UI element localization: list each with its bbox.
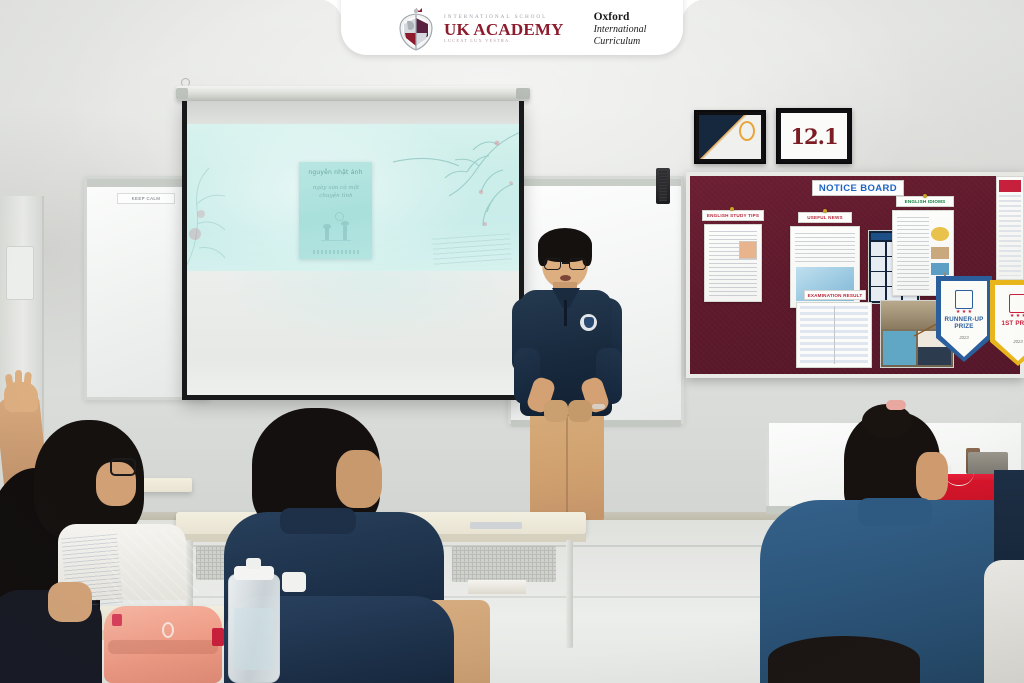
banner-logo-row: INTERNATIONAL SCHOOL UK ACADEMY LUCEAT L… bbox=[341, 6, 683, 52]
keep-calm-sticker: KEEP CALM bbox=[117, 193, 175, 204]
desk-item bbox=[470, 522, 522, 529]
desk-basket bbox=[452, 546, 556, 582]
wristband bbox=[592, 404, 605, 409]
notice-board-title: NOTICE BOARD bbox=[812, 180, 904, 196]
poster-examination-result bbox=[796, 302, 872, 368]
classroom-photo: KEEP CALM bbox=[0, 0, 1024, 683]
book-author: nguyễn nhật ánh bbox=[305, 169, 366, 176]
section-label-examination-result: EXAMINATION RESULT bbox=[804, 290, 866, 300]
pennant-title: RUNNER-UP PRIZE bbox=[936, 316, 992, 330]
banner-notch-left bbox=[317, 0, 343, 25]
school-motto: LUCEAT LUX VESTRA bbox=[444, 39, 564, 43]
school-crest-icon bbox=[580, 314, 597, 331]
school-crest-icon bbox=[396, 6, 436, 52]
projected-slide: nguyễn nhật ánh ngày xưa có một chuyện t… bbox=[187, 124, 519, 271]
poster-study-tips bbox=[704, 224, 762, 302]
pennant-title: 1ST PRIZE bbox=[990, 320, 1024, 327]
partner-line-2: International bbox=[594, 24, 647, 36]
eyeglasses-icon bbox=[569, 258, 586, 270]
hair-tie bbox=[886, 400, 906, 410]
hair-bun bbox=[862, 404, 912, 438]
framed-certificate bbox=[694, 110, 766, 164]
school-name: UK ACADEMY bbox=[444, 21, 564, 38]
slide-text-lines bbox=[432, 233, 512, 268]
eyeglasses-icon bbox=[544, 258, 561, 270]
poster-wall-edge bbox=[996, 176, 1024, 280]
presenter-hand bbox=[568, 400, 592, 422]
presenter bbox=[508, 228, 628, 520]
student-hand bbox=[48, 582, 92, 622]
stacked-papers bbox=[468, 580, 526, 594]
blossom-branch-icon bbox=[393, 126, 519, 246]
banner-notch-right bbox=[681, 0, 707, 25]
eyeglasses-icon bbox=[110, 458, 136, 476]
student-edge-white-shirt bbox=[984, 560, 1024, 683]
projector-screen-roller bbox=[176, 86, 530, 101]
sun-icon bbox=[335, 212, 344, 221]
presenter-hand bbox=[544, 400, 568, 422]
publisher-mark bbox=[313, 250, 359, 254]
partner-line-1: Oxford bbox=[594, 10, 647, 24]
pennant-year: 2023 bbox=[990, 339, 1024, 344]
wall-speaker-icon bbox=[656, 168, 670, 204]
slide-book-cover: nguyễn nhật ánh ngày xưa có một chuyện t… bbox=[299, 162, 372, 259]
wall-switch-panel bbox=[6, 246, 34, 300]
section-label-useful-news: USEFUL NEWS bbox=[798, 212, 852, 223]
framed-class-sign: 12.1 bbox=[776, 108, 852, 164]
projection-screen-lower bbox=[187, 271, 519, 395]
book-title: ngày xưa có một chuyện tình bbox=[309, 184, 363, 200]
class-number: 12.1 bbox=[781, 113, 847, 159]
student-jacket bbox=[106, 530, 198, 604]
screen-pull-hook-icon bbox=[181, 78, 190, 87]
small-cup bbox=[282, 572, 306, 592]
marker-pen bbox=[212, 628, 224, 646]
blossom-branch-icon bbox=[187, 164, 271, 271]
partner-line-3: Curriculum bbox=[594, 36, 647, 48]
student-hair bbox=[768, 636, 920, 683]
pennant-year: 2023 bbox=[936, 335, 992, 340]
section-label-study-tips: ENGLISH STUDY TIPS bbox=[702, 210, 764, 221]
partner-logo: Oxford International Curriculum bbox=[594, 10, 647, 48]
